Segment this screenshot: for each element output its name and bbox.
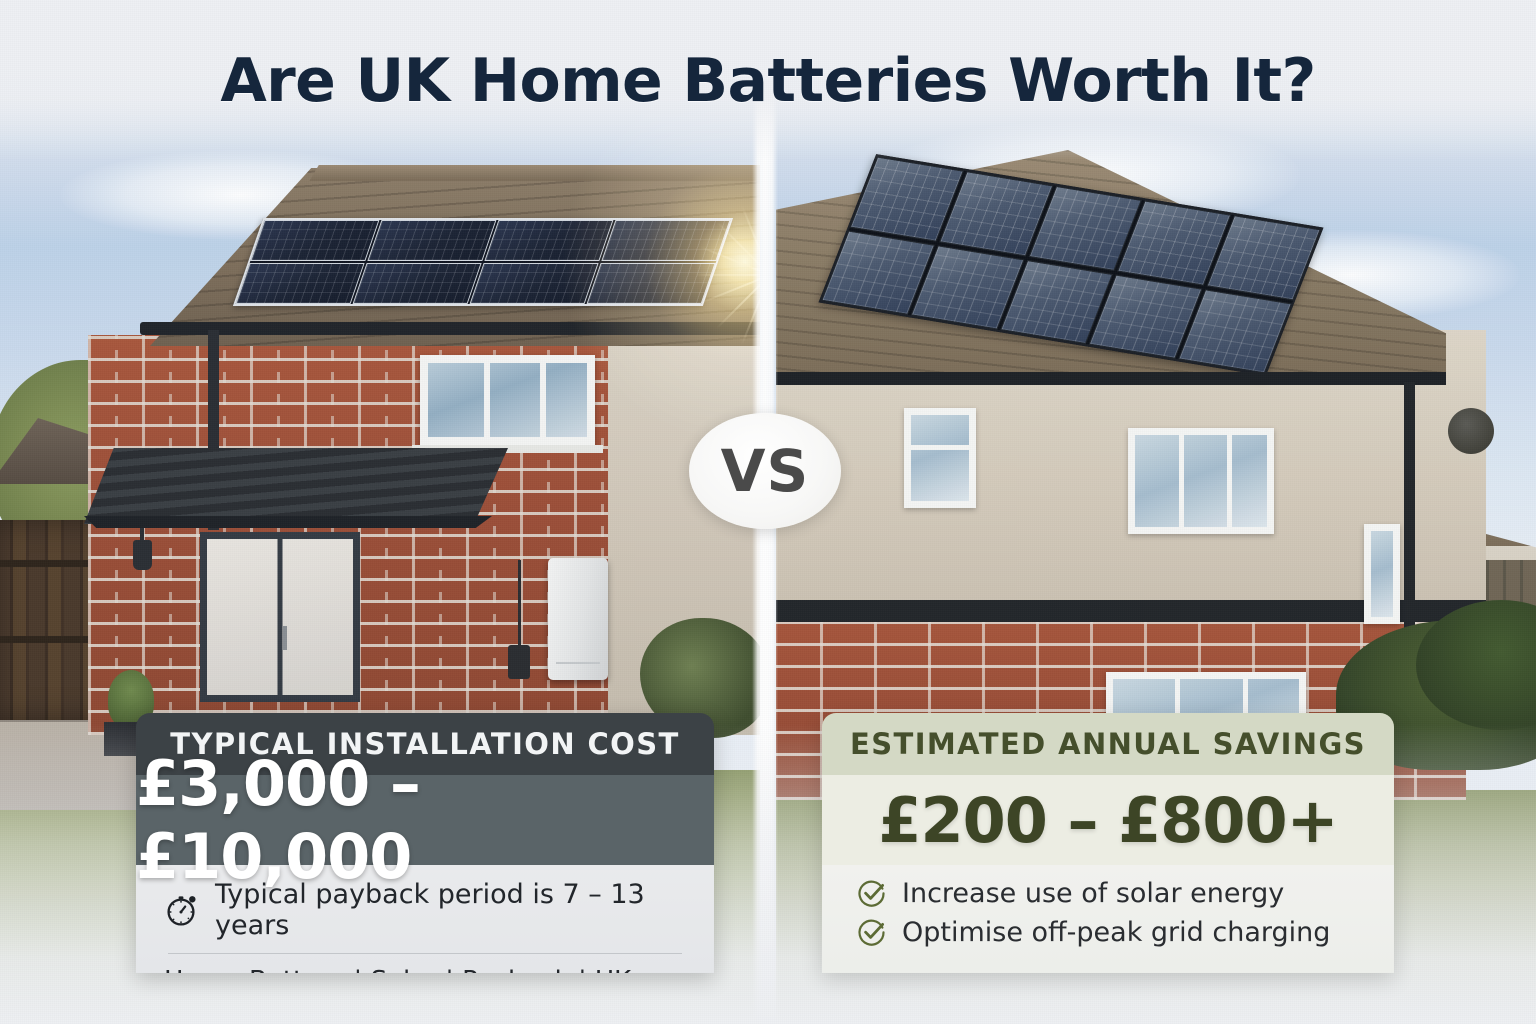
- installation-cost-body: Typical payback period is 7 – 13 years H…: [136, 865, 714, 973]
- upstairs-window-centre: [1128, 428, 1274, 534]
- vs-badge: VS: [689, 413, 841, 529]
- upstairs-window-right: [1364, 524, 1400, 624]
- installation-cost-value: £3,000 – £10,000: [136, 775, 714, 865]
- check-circle-icon: [856, 877, 888, 909]
- infographic-canvas: Are UK Home Batteries Worth It? VS TYPIC…: [0, 0, 1536, 1024]
- installation-cost-card: TYPICAL INSTALLATION COST £3,000 – £10,0…: [136, 713, 714, 973]
- porch-roof: [84, 448, 508, 524]
- annual-savings-value: £200 – £800+: [822, 775, 1394, 865]
- payback-period-row: Typical payback period is 7 – 13 years: [164, 879, 686, 941]
- porch-fascia: [84, 516, 492, 528]
- stopwatch-icon: [164, 892, 200, 928]
- page-title: Are UK Home Batteries Worth It?: [0, 46, 1536, 116]
- porch-lamp: [133, 540, 152, 570]
- benefit-item: Increase use of solar energy: [856, 877, 1368, 909]
- satellite-dish: [1448, 408, 1494, 454]
- annual-savings-header: ESTIMATED ANNUAL SAVINGS: [822, 713, 1394, 775]
- payback-period-text: Typical payback period is 7 – 13 years: [215, 879, 686, 941]
- check-circle-icon: [856, 916, 888, 948]
- topic-tags: Home Battery | Solar | Payback | UK Cost…: [164, 954, 686, 973]
- annual-savings-card: ESTIMATED ANNUAL SAVINGS £200 – £800+ In…: [822, 713, 1394, 973]
- home-battery-unit: [548, 558, 608, 680]
- gutter: [140, 322, 760, 335]
- battery-conduit: [518, 560, 521, 648]
- benefit-text: Optimise off-peak grid charging: [902, 917, 1330, 948]
- benefit-text: Increase use of solar energy: [902, 878, 1284, 909]
- gutter: [776, 372, 1446, 385]
- vs-badge-label: VS: [721, 437, 810, 505]
- roof-ridge: [300, 165, 760, 181]
- annual-savings-body: Increase use of solar energy Optimise of…: [822, 865, 1394, 973]
- upstairs-window-left: [904, 408, 976, 508]
- inverter-box: [508, 645, 530, 679]
- solar-panel-array: [233, 218, 733, 306]
- benefit-item: Optimise off-peak grid charging: [856, 916, 1368, 948]
- patio-door: [200, 532, 360, 702]
- upstairs-window: [420, 355, 595, 445]
